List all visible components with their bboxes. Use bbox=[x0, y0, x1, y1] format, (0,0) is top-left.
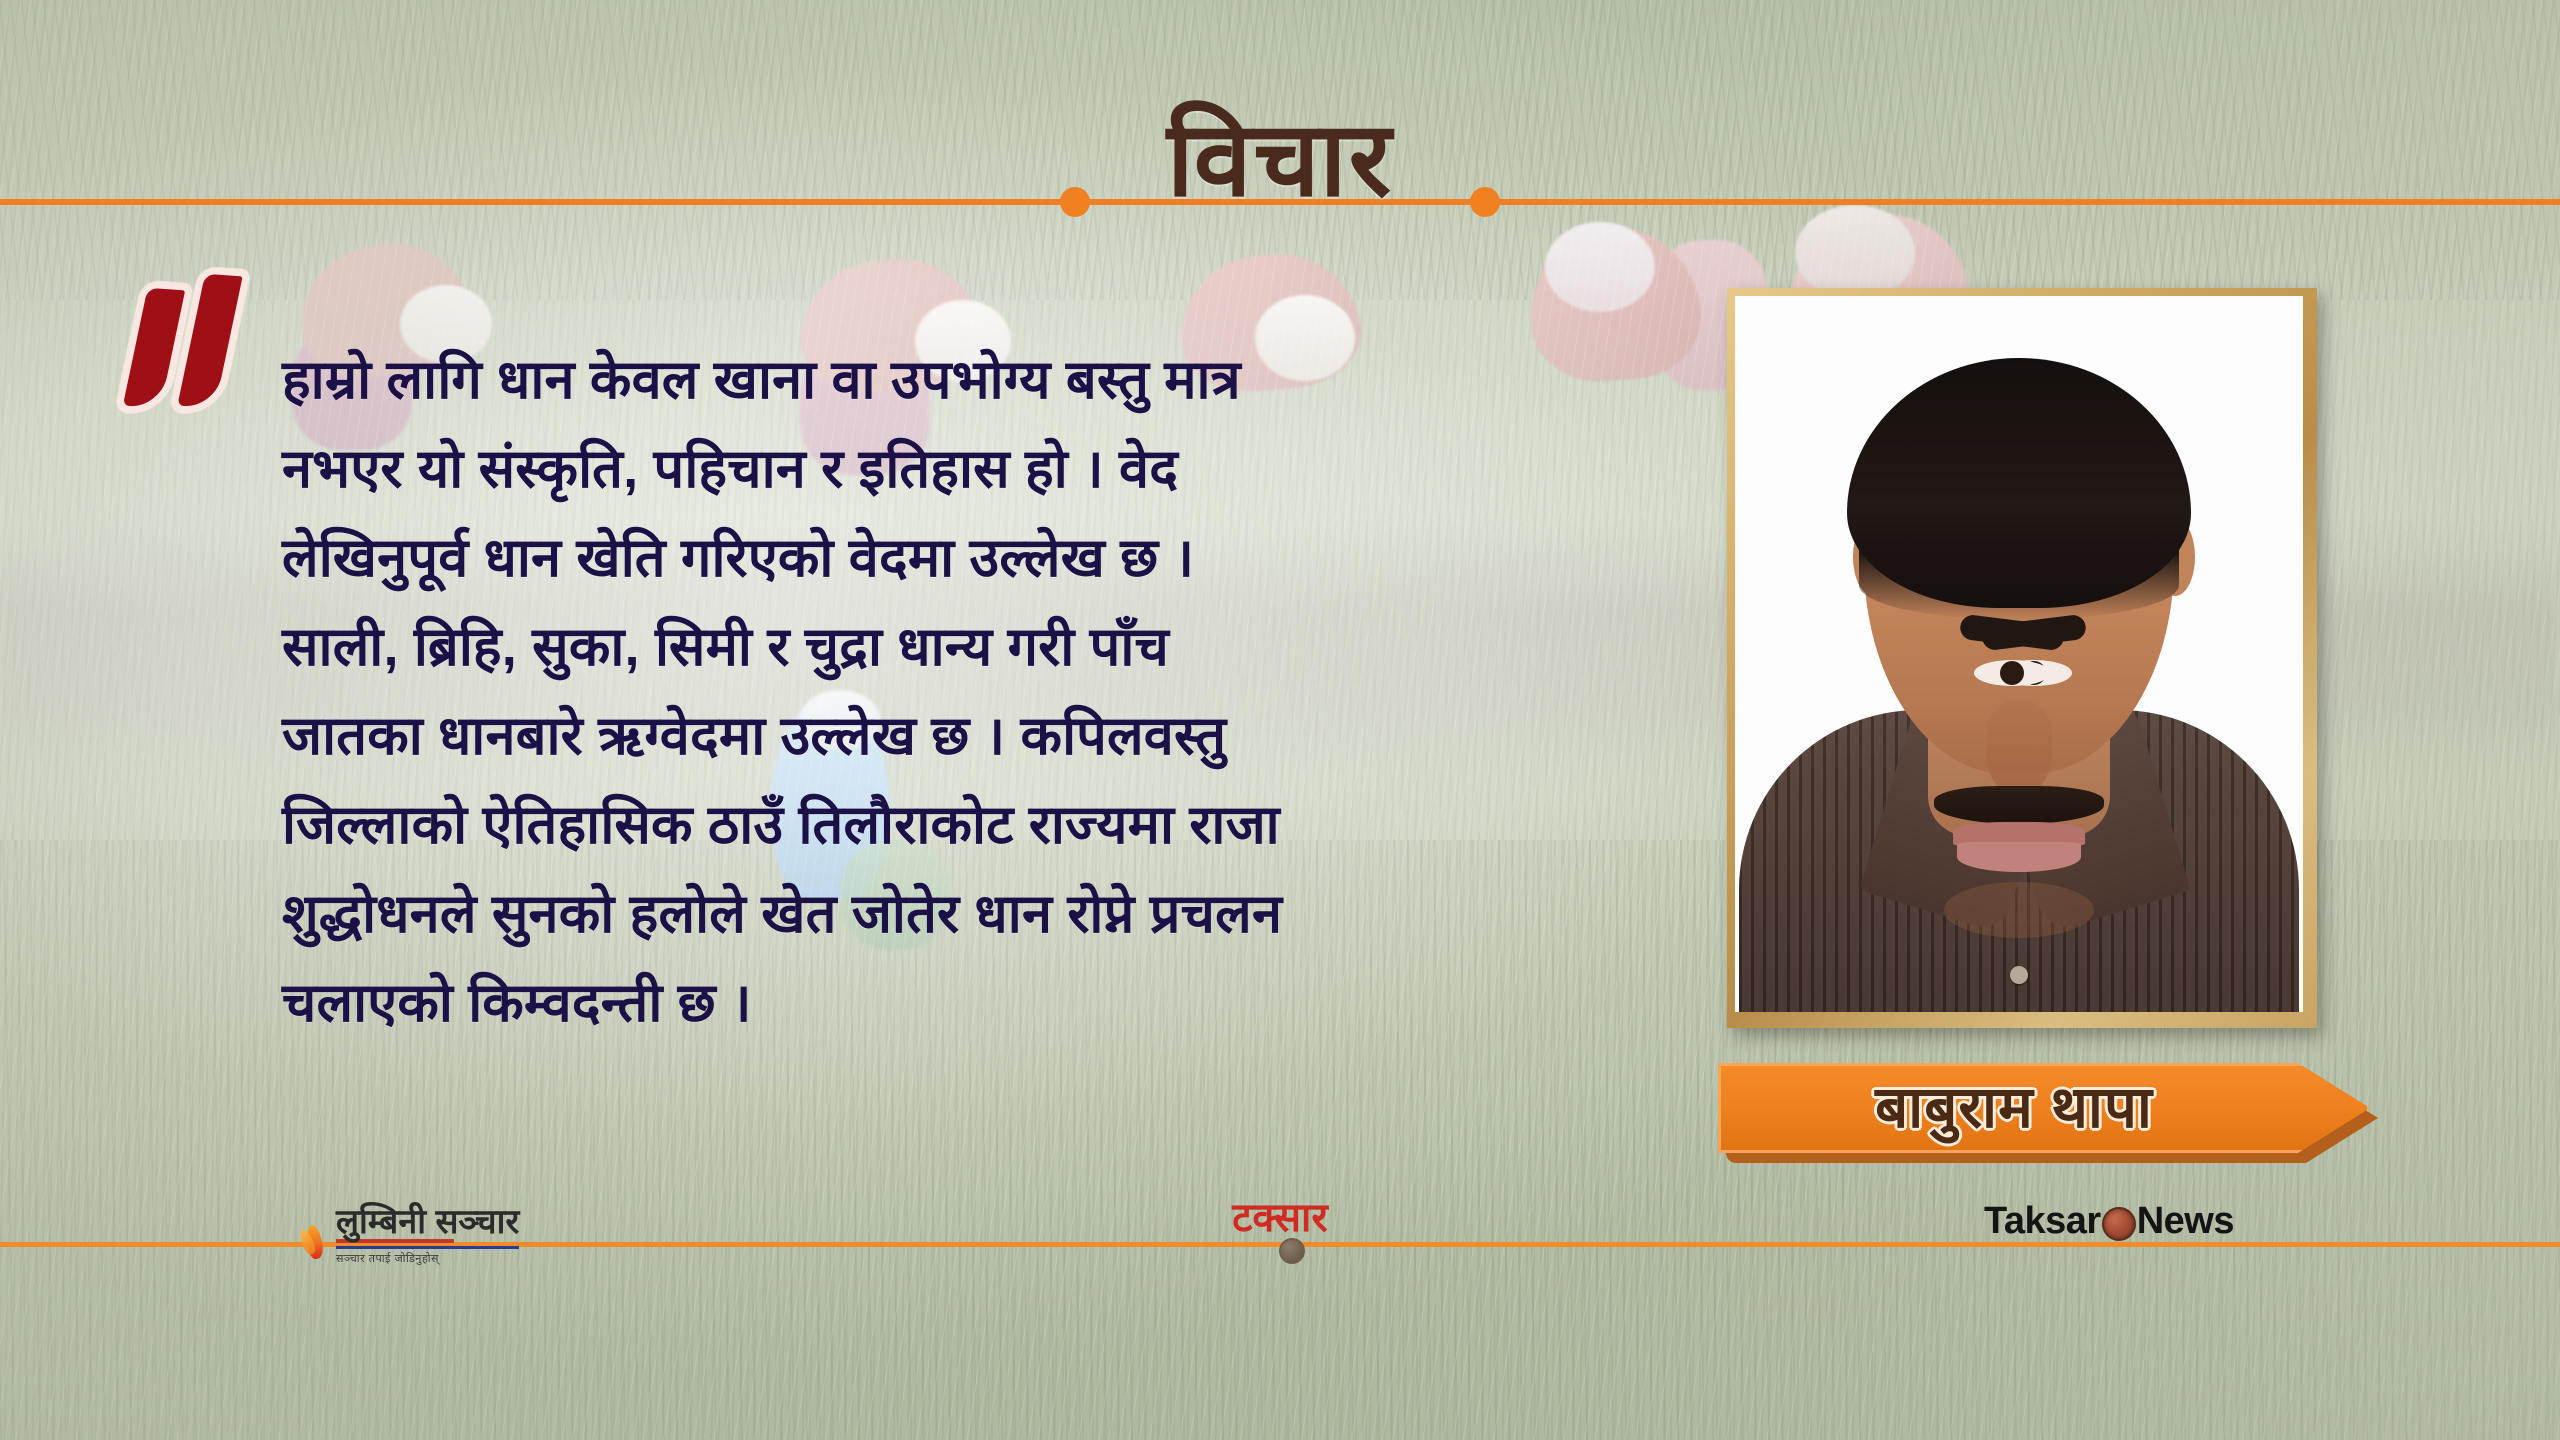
banner-body: बाबुराम थापा bbox=[1718, 1063, 2370, 1153]
page-title: विचार bbox=[0, 108, 2560, 212]
portrait-chin bbox=[1944, 882, 2094, 938]
portrait-nose bbox=[1986, 700, 2052, 796]
opinion-poster: विचार हाम्रो लागि धान केवल खाना वा उपभोग… bbox=[0, 0, 2560, 1440]
taksar-news-logo[interactable]: Taksar News bbox=[1984, 1202, 2234, 1240]
taksar-news-part1: Taksar bbox=[1984, 1202, 2101, 1240]
taksar-news-part2: News bbox=[2137, 1202, 2234, 1240]
author-photo bbox=[1735, 296, 2303, 1012]
quote-line: चलाएको किम्वदन्ती छ । bbox=[282, 959, 1652, 1048]
lumbini-sanchar-tagline: सञ्चार तपाई जोडिनुहोस् bbox=[336, 1246, 519, 1266]
author-photo-frame bbox=[1727, 288, 2317, 1028]
coin-icon bbox=[1279, 1238, 1305, 1264]
portrait-moustache bbox=[1934, 786, 2104, 824]
coin-icon bbox=[2102, 1207, 2136, 1241]
quote-line: शुद्धोधनले सुनको हलोले खेत जोतेर धान रोप… bbox=[282, 870, 1652, 959]
quote-text: हाम्रो लागि धान केवल खाना वा उपभोग्य बस्… bbox=[282, 336, 1652, 1048]
quote-line: नभएर यो संस्कृति, पहिचान र इतिहास हो । व… bbox=[282, 425, 1652, 514]
portrait-lower-lip bbox=[1957, 842, 2081, 872]
portrait-illustration bbox=[1735, 296, 2303, 1012]
portrait-eye-right bbox=[1974, 660, 2050, 686]
portrait-shirt-button bbox=[2010, 966, 2028, 984]
quote-line: हाम्रो लागि धान केवल खाना वा उपभोग्य बस्… bbox=[282, 336, 1652, 425]
quote-line: जातका धानबारे ऋग्वेदमा उल्लेख छ । कपिलवस… bbox=[282, 692, 1652, 781]
quote-line: जिल्लाको ऐतिहासिक ठाउँ तिलौराकोट राज्यमा… bbox=[282, 781, 1652, 870]
quote-line: लेखिनुपूर्व धान खेति गरिएको वेदमा उल्लेख… bbox=[282, 514, 1652, 603]
portrait-hair bbox=[1847, 358, 2191, 608]
quote-line: साली, ब्रिहि, सुका, सिमी र चुद्रा धान्य … bbox=[282, 603, 1652, 692]
author-name: बाबुराम थापा bbox=[1875, 1079, 2153, 1137]
author-name-banner: बाबुराम थापा bbox=[1718, 1063, 2378, 1159]
open-quote-icon bbox=[128, 282, 248, 412]
